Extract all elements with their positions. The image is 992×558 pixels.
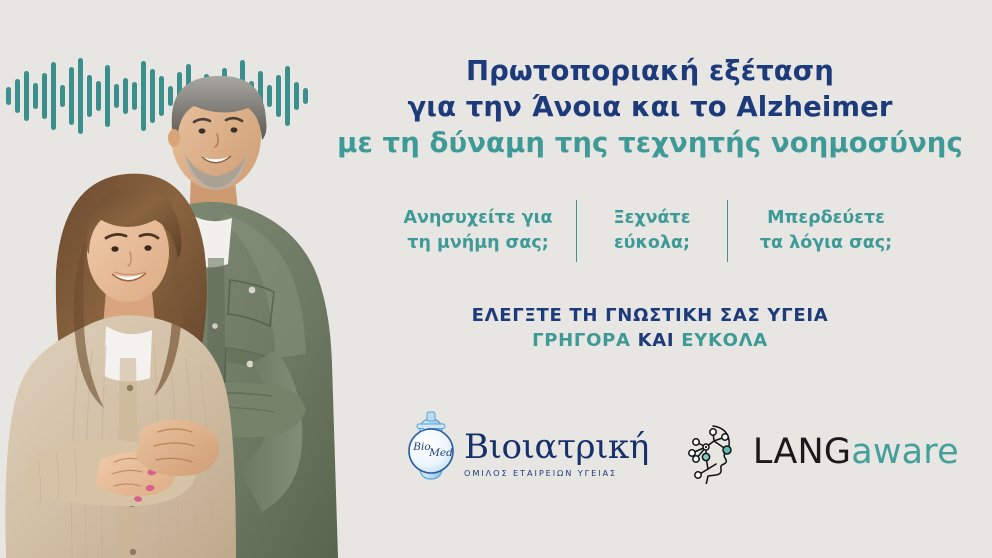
question-1-line-2: τη μνήμη σας;	[380, 231, 576, 256]
cta-line-2-part-2: ΚΑΙ	[638, 330, 675, 351]
question-column-3: Μπερδεύετε τα λόγια σας;	[728, 206, 924, 257]
biomed-badge-bio: Bio	[412, 441, 430, 453]
langaware-network-head-icon	[683, 420, 741, 484]
biomed-vial-icon: Bio Med	[400, 411, 462, 493]
cta-line-2-part-3: ΕΥΚΟΛΑ	[674, 330, 768, 351]
headline-line-2: για την Άνοια και το Alzheimer	[330, 90, 970, 126]
biomed-tagline: ΟΜΙΛΟΣ ΕΤΑΙΡΕΙΩΝ ΥΓΕΙΑΣ	[464, 468, 617, 478]
question-3-line-1: Μπερδεύετε	[728, 206, 924, 231]
cta-line-2: ΓΡΗΓΟΡΑ ΚΑΙ ΕΥΚΟΛΑ	[330, 329, 970, 354]
biomed-logo[interactable]: Bio Med Βιοιατρική ΟΜΙΛΟΣ ΕΤΑΙΡΕΙΩΝ ΥΓΕΙ…	[400, 411, 649, 493]
question-2-line-2: εύκολα;	[577, 231, 727, 256]
question-column-2: Ξεχνάτε εύκολα;	[577, 206, 727, 257]
question-2-line-1: Ξεχνάτε	[577, 206, 727, 231]
call-to-action: ΕΛΕΓΞΤΕ ΤΗ ΓΝΩΣΤΙΚΗ ΣΑΣ ΥΓΕΙΑ ΓΡΗΓΟΡΑ ΚΑ…	[330, 304, 970, 354]
langaware-logo[interactable]: LANGaware	[683, 420, 959, 484]
logo-row: Bio Med Βιοιατρική ΟΜΙΛΟΣ ΕΤΑΙΡΕΙΩΝ ΥΓΕΙ…	[400, 406, 900, 498]
question-columns: Ανησυχείτε για τη μνήμη σας; Ξεχνάτε εύκ…	[352, 200, 952, 262]
biomed-wordmark-block: Βιοιατρική ΟΜΙΛΟΣ ΕΤΑΙΡΕΙΩΝ ΥΓΕΙΑΣ	[464, 426, 649, 478]
biomed-wordmark: Βιοιατρική	[464, 430, 649, 464]
headline-line-1: Πρωτοποριακή εξέταση	[330, 54, 970, 90]
poster-canvas: Πρωτοποριακή εξέταση για την Άνοια και τ…	[0, 0, 992, 558]
langaware-wordmark: LANGaware	[753, 435, 959, 470]
headline-line-3: με τη δύναμη της τεχνητής νοημοσύνης	[330, 126, 970, 162]
headline: Πρωτοποριακή εξέταση για την Άνοια και τ…	[330, 54, 970, 161]
langaware-word-lang: LANG	[753, 432, 851, 472]
biomed-badge-med: Med	[428, 447, 453, 459]
langaware-word-aware: aware	[851, 432, 959, 472]
cta-line-1: ΕΛΕΓΞΤΕ ΤΗ ΓΝΩΣΤΙΚΗ ΣΑΣ ΥΓΕΙΑ	[330, 304, 970, 329]
question-column-1: Ανησυχείτε για τη μνήμη σας;	[380, 206, 576, 257]
question-3-line-2: τα λόγια σας;	[728, 231, 924, 256]
question-1-line-1: Ανησυχείτε για	[380, 206, 576, 231]
cta-line-2-part-1: ΓΡΗΓΟΡΑ	[532, 330, 638, 351]
